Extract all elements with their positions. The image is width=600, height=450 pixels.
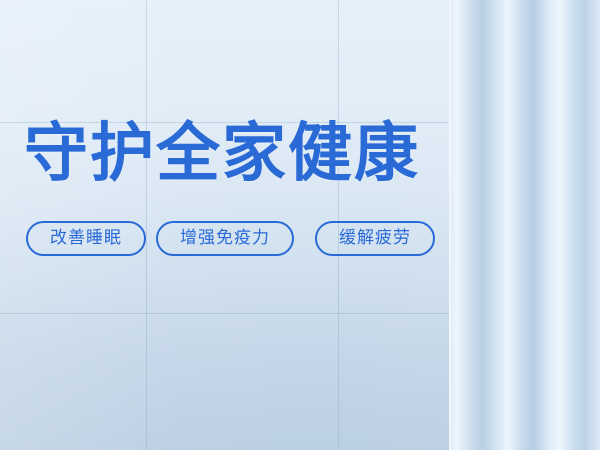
banner-headline: 守护全家健康 xyxy=(24,118,420,190)
benefit-tag-improve-sleep[interactable]: 改善睡眠 xyxy=(26,221,146,256)
benefit-tag-list: 改善睡眠 增强免疫力 缓解疲劳 xyxy=(26,221,435,256)
health-promo-banner: 守护全家健康 改善睡眠 增强免疫力 缓解疲劳 xyxy=(0,0,600,450)
benefit-tag-boost-immunity[interactable]: 增强免疫力 xyxy=(156,221,294,256)
banner-content: 守护全家健康 改善睡眠 增强免疫力 缓解疲劳 xyxy=(24,0,584,450)
benefit-tag-relieve-fatigue[interactable]: 缓解疲劳 xyxy=(315,221,435,256)
